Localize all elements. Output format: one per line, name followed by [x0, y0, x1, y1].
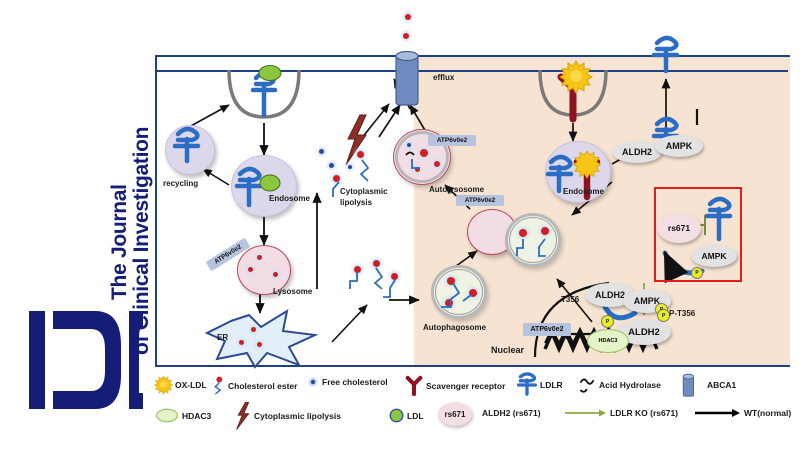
cholesterol-ester-dot: [251, 327, 256, 332]
abca1-transporter-icon: [390, 43, 424, 109]
jci-branding: The Journal of Clinical Investigation: [0, 0, 150, 454]
legend-label-cholesterol-ester: Cholesterol ester: [228, 381, 297, 391]
legend-label-ldl: LDL: [407, 411, 424, 421]
atp6v0e2-nuclear-badge: ATP6v0e2: [523, 323, 571, 336]
legend-item-ox-ldl: OX-LDL: [155, 376, 207, 393]
cholesterol-ester-tails-2: [347, 262, 411, 308]
hdac3-ellipse-icon: [155, 408, 179, 423]
legend-item-scavenger-receptor: Scavenger receptor: [405, 376, 505, 396]
legend-label-aldh2-rs671: ALDH2 (rs671): [482, 408, 541, 418]
fusion-vesicle-contents: [509, 225, 559, 267]
cholesterol-ester-icon: [212, 376, 225, 396]
legend-item-rs671: rs671: [438, 402, 472, 426]
legend-label-hdac3: HDAC3: [182, 411, 211, 421]
ox-ldl-sunburst-icon: [155, 376, 172, 393]
cholesterol-ester-dot: [257, 255, 262, 260]
ox-ldl-sunburst-icon: [561, 61, 591, 91]
cholesterol-ester-dot: [273, 272, 278, 277]
free-cholesterol-dot: [319, 149, 324, 154]
legend-item-abca1: ABCA1: [680, 372, 736, 398]
legend-label-scavenger-receptor: Scavenger receptor: [426, 381, 505, 391]
legend-label-wt-normal: WT(normal): [744, 408, 791, 418]
nuclear-label: Nuclear: [491, 345, 524, 355]
scavenger-receptor-icon: [405, 376, 423, 396]
acid-hydrolase-icon: [578, 376, 596, 394]
free-cholesterol-efflux-dot: [403, 33, 409, 39]
cholesterol-ester-dot: [257, 342, 262, 347]
legend-item-free-cholesterol: Free cholesterol: [307, 376, 388, 388]
t356-label: T356: [561, 295, 579, 304]
jci-logo-icon: [23, 305, 143, 415]
figure-root: The Journal of Clinical Investigation: [0, 0, 800, 454]
cholesterol-ester-dot: [248, 267, 253, 272]
autophagosome-label: Autophagosome: [423, 323, 486, 332]
rs671-pill-icon: rs671: [438, 402, 472, 426]
free-cholesterol-efflux-dot: [405, 14, 411, 20]
legend-label-ox-ldl: OX-LDL: [175, 380, 207, 390]
black-arrow-icon: [695, 408, 741, 418]
legend-item-ldl: LDL: [389, 408, 424, 423]
legend-label-abca1: ABCA1: [707, 380, 736, 390]
legend-item-ldlr-ko: LDLR KO (rs671): [565, 408, 678, 418]
journal-title-line1: The Journal: [108, 184, 132, 300]
legend-label-ldlr: LDLR: [540, 380, 563, 390]
cytoplasmic-lipolysis-label-2: lipolysis: [340, 198, 372, 207]
legend-label-cytoplasmic-lipolysis: Cytoplasmic lipolysis: [254, 411, 341, 421]
ldl-circle-icon: [389, 408, 404, 423]
p-t356-label: P-T356: [669, 309, 695, 318]
legend-label-acid-hydrolase: Acid Hydrolase: [599, 380, 661, 390]
legend-item-cytoplasmic-lipolysis: Cytoplasmic lipolysis: [235, 402, 341, 430]
er-label: ER: [217, 333, 228, 342]
ldlr-icon: [517, 374, 537, 396]
lysosome-label: Lysosome: [273, 287, 312, 296]
ampk-top-pill: AMPK: [655, 135, 703, 157]
endosome-left-ldlr-icon: [229, 167, 285, 215]
autolysosome-label: Autolysosome: [429, 185, 484, 194]
cytoplasmic-lipolysis-bolt-icon: [235, 402, 251, 430]
atp6v0e2-fusion-badge: ATP6v0e2: [456, 195, 504, 206]
legend-label-ldlr-ko: LDLR KO (rs671): [610, 408, 678, 418]
phosphate-marker: P: [691, 267, 703, 279]
legend-item-acid-hydrolase: Acid Hydrolase: [578, 376, 661, 394]
legend-item-hdac3: HDAC3: [155, 408, 211, 423]
cholesterol-ester-dot: [239, 340, 244, 345]
legend-item-aldh2-rs671: ALDH2 (rs671): [482, 408, 541, 418]
ampk-box-pill: AMPK: [691, 245, 737, 267]
phosphate-marker-aldh2: P: [601, 315, 614, 328]
legend: OX-LDL Cholesterol ester Free cholestero…: [155, 372, 800, 444]
atp6v0e2-autolysosome-badge: ATP6v0e2: [428, 135, 476, 146]
abca1-cylinder-icon: [680, 372, 696, 398]
cytoplasmic-lipolysis-label-1: Cytoplasmic: [340, 187, 388, 196]
legend-item-cholesterol-ester: Cholesterol ester: [212, 376, 297, 396]
endosome-left-label: Endosome: [269, 194, 310, 203]
recycling-label: recycling: [163, 179, 198, 188]
efflux-label: efflux: [433, 73, 454, 82]
recycling-ldlr-icon: [165, 125, 215, 175]
diagram-panel: recycling Endosome ATP6v0e2 Lysosome ER: [155, 55, 790, 367]
rs671-pill: rs671: [657, 213, 701, 243]
legend-item-ldlr: LDLR: [517, 374, 563, 396]
autophagosome-contents: [435, 273, 487, 319]
legend-label-free-cholesterol: Free cholesterol: [322, 377, 388, 387]
free-cholesterol-dot-icon: [307, 376, 319, 388]
legend-item-wt-normal: WT(normal): [695, 408, 791, 418]
hdac3-ellipse: HDAC3: [587, 329, 629, 353]
green-arrow-icon: [565, 408, 607, 418]
endosome-right-label: Endosome: [563, 187, 604, 196]
